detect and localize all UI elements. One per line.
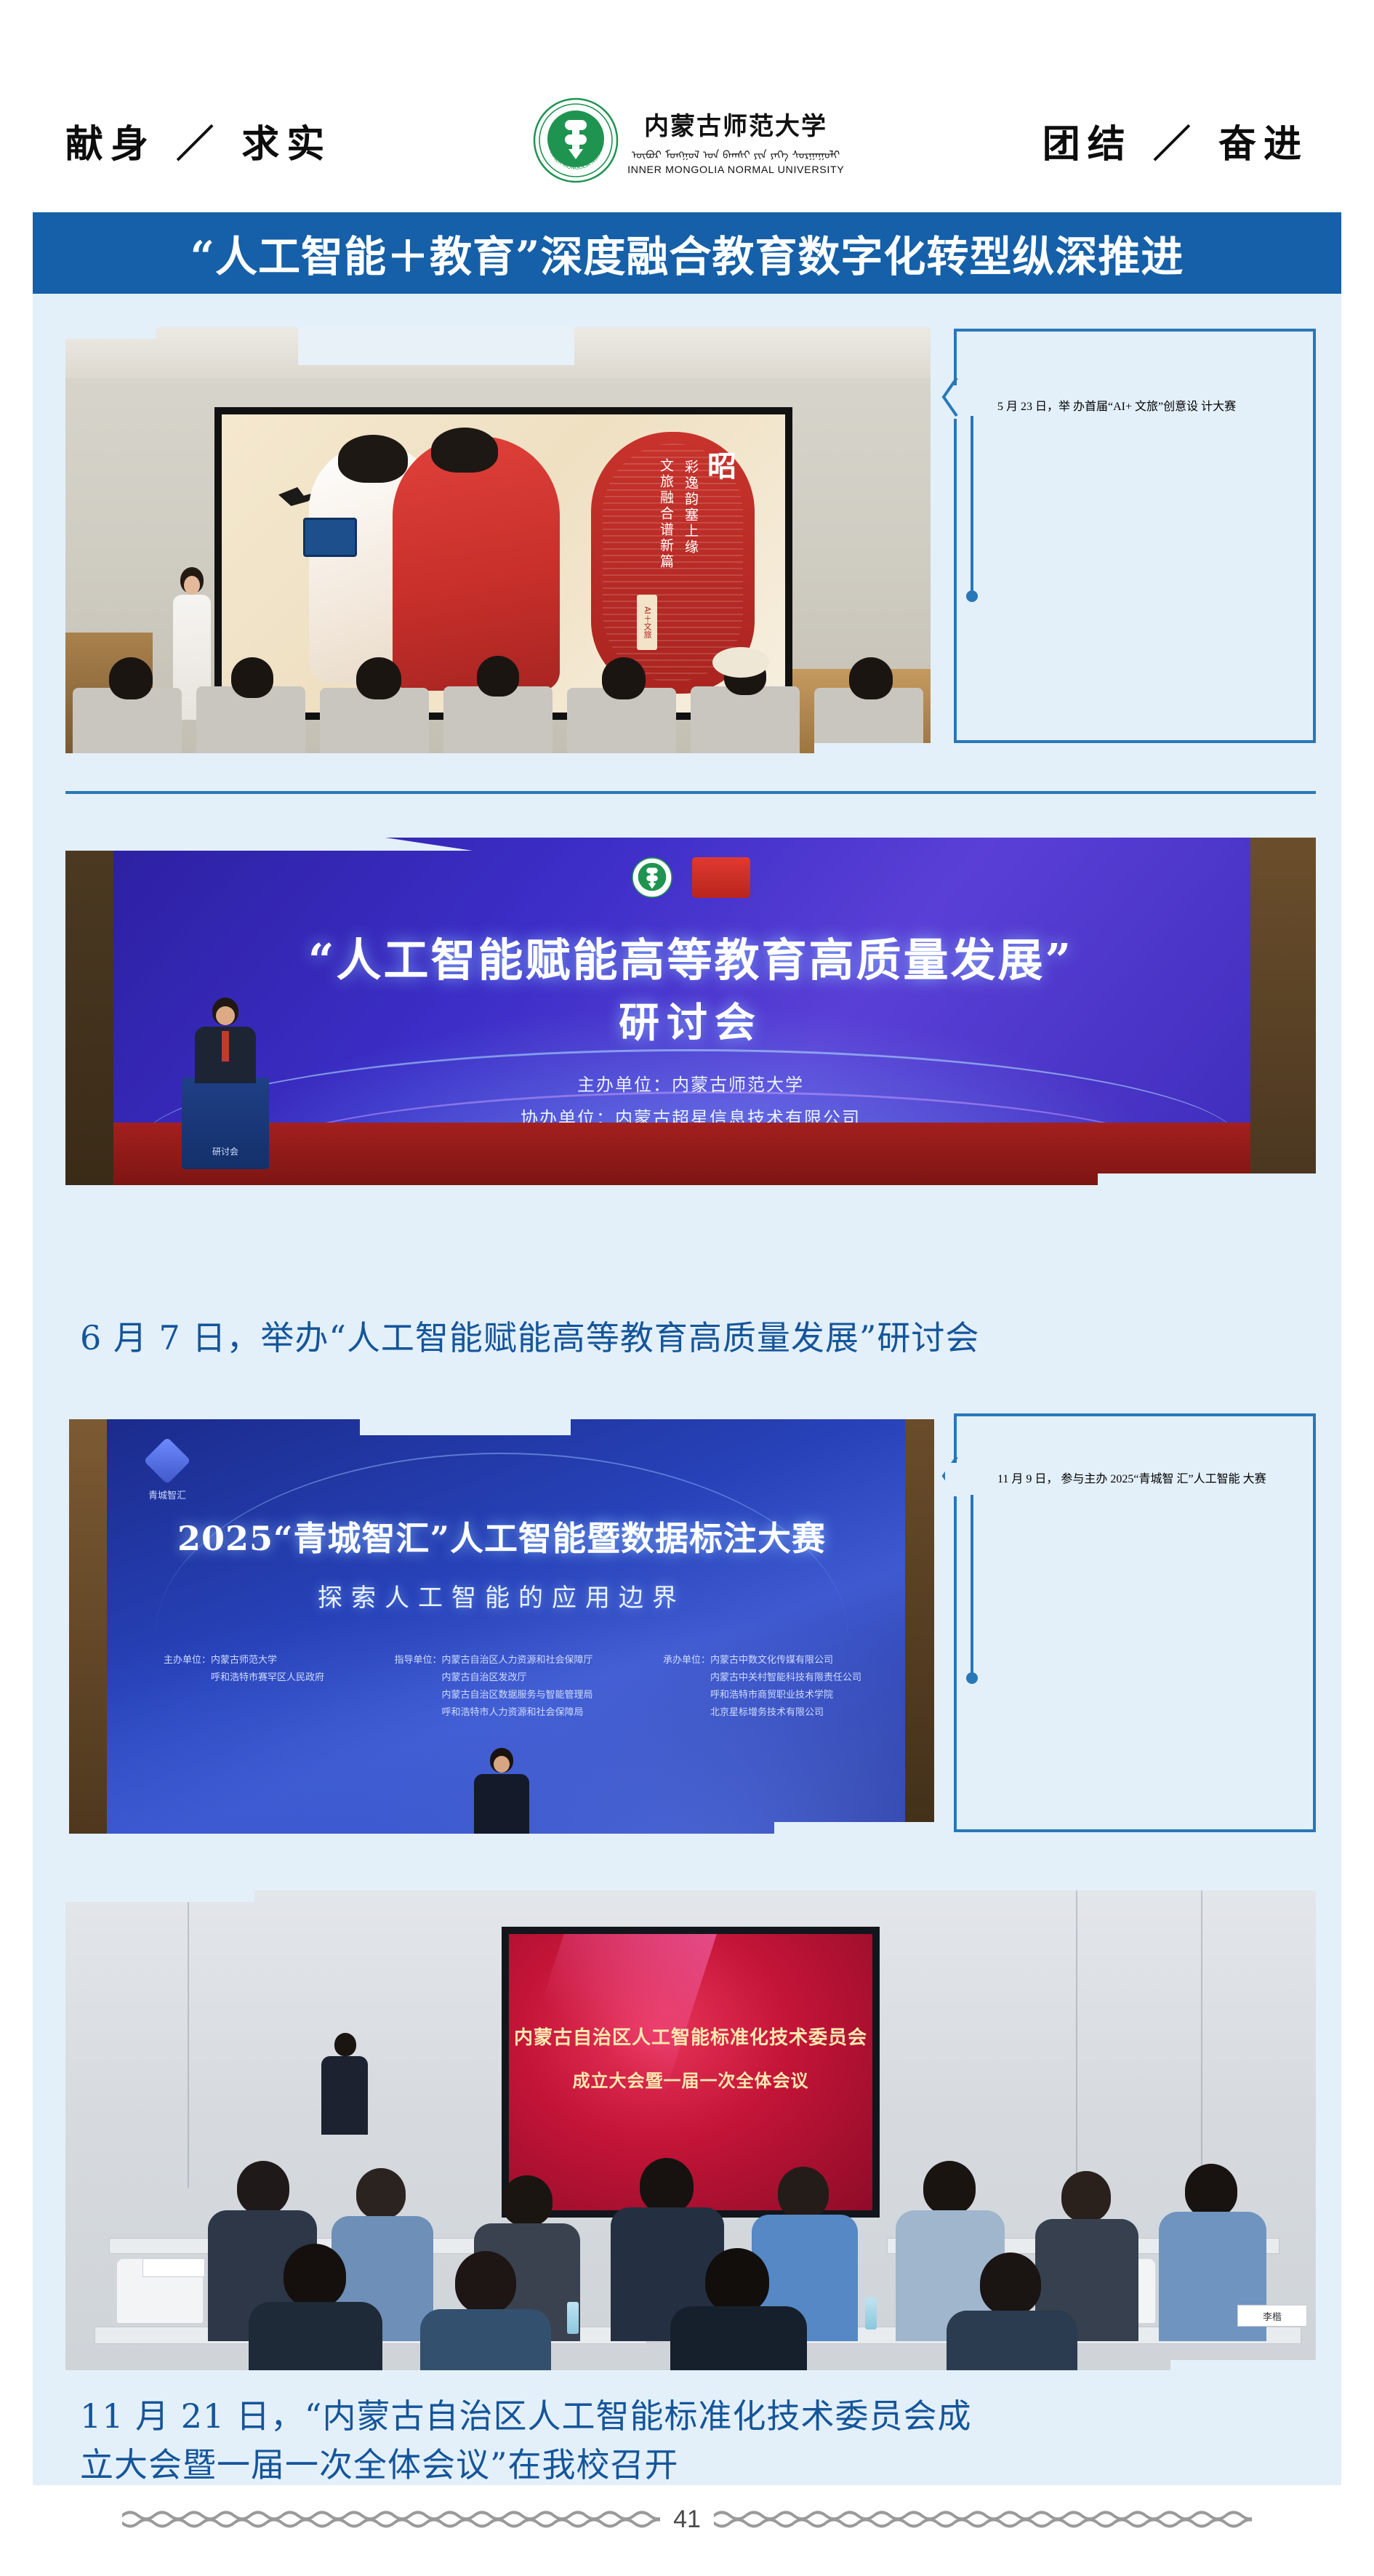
section-1-separator [65, 791, 1316, 794]
contest-org-columns: 主办单位：内蒙古师范大学 呼和浩特市赛罕区人民政府 指导单位：内蒙古自治区人力资… [164, 1652, 861, 1722]
screen-badge: AI＋文旅 [637, 595, 657, 650]
seminar-banner-title: “人工智能赋能高等教育高质量发展” [262, 923, 1120, 989]
wave-decoration-left-icon [122, 2508, 660, 2530]
university-crest-icon-small [631, 856, 673, 899]
page-footer: 41 [0, 2494, 1374, 2545]
caption-3-dot [966, 1672, 978, 1684]
meeting-screen-line-1: 内蒙古自治区人工智能标准化技术委员会 [509, 2023, 872, 2050]
seminar-banner-logos [631, 856, 750, 899]
meeting-screen-line-2: 成立大会暨一届一次全体会议 [509, 2066, 872, 2092]
caption-3-text: 11 月 9 日， 参与主办 2025“青城智 汇”人工智能 大赛 [997, 1469, 1303, 1486]
contest-banner-subtitle: 探索人工智能的应用边界 [318, 1578, 686, 1613]
contest-logo-label: 青城智汇 [142, 1488, 193, 1501]
nameplate: 李楷 [1237, 2305, 1307, 2327]
motto-left: 献身 ／ 求实 [65, 113, 332, 168]
audience-row [65, 654, 931, 753]
seminar-banner-subtitle: 研讨会 [619, 990, 763, 1049]
section-title-text: “人工智能＋教育”深度融合教育数字化转型纵深推进 [190, 222, 1184, 284]
podium-label: 研讨会 [182, 1145, 269, 1157]
screen-title-col-1: 彩逸韵塞上缘 [681, 460, 701, 555]
caption-3-text-wrap: 11 月 9 日， 参与主办 2025“青城智 汇”人工智能 大赛 [997, 1469, 1303, 1486]
caption-1-left-top-rule [954, 329, 957, 385]
section-title-bar: “人工智能＋教育”深度融合教育数字化转型纵深推进 [33, 212, 1341, 294]
contest-banner-title: 2025“青城智汇”人工智能暨数据标注大赛 [116, 1512, 887, 1560]
university-name-mn: ᠥᠪᠥᠷ ᠮᠣᠩᠭᠣᠯ ᠤᠨ ᠪᠠᠭᠰᠢ ᠶᠢᠨ ᠶᠡᠬᠡ ᠰᠤᠷᠭᠠᠭᠤᠯᠢ [632, 143, 840, 162]
caption-3-left-bottom-rule [954, 1710, 957, 1832]
caption-1-text: 5 月 23 日，举 办首届“AI+ 文旅”创意设 计大赛 [997, 396, 1303, 414]
photo-qingcheng-zhihui-ai-contest: 青城智汇 2025“青城智汇”人工智能暨数据标注大赛 探索人工智能的应用边界 主… [69, 1419, 934, 1834]
contest-org-column-2: 指导单位：内蒙古自治区人力资源和社会保障厅 内蒙古自治区发改厅 内蒙古自治区数据… [394, 1652, 592, 1722]
university-name-cn: 内蒙古师范大学 [644, 106, 827, 142]
caption-3-left-top-rule [954, 1413, 957, 1458]
photo-ai-wenlv-design-contest: 昭 彩逸韵塞上缘 文旅融合谱新篇 AI＋文旅 [65, 327, 931, 753]
caption-1-text-wrap: 5 月 23 日，举 办首届“AI+ 文旅”创意设 计大赛 [997, 396, 1303, 414]
screen-title-col-2: 文旅融合谱新篇 [656, 458, 676, 570]
university-name-block: 内蒙古师范大学 ᠥᠪᠥᠷ ᠮᠣᠩᠭᠣᠯ ᠤᠨ ᠪᠠᠭᠰᠢ ᠶᠢᠨ ᠶᠡᠬᠡ ᠰᠤ… [630, 106, 843, 175]
caption-1-frame [954, 329, 1316, 743]
screen-title-main: 昭 [698, 451, 740, 482]
host-figure [474, 1748, 529, 1834]
page-number: 41 [673, 2505, 701, 2534]
partner-logo-icon [692, 857, 750, 898]
contest-org-column-1: 主办单位：内蒙古师范大学 呼和浩特市赛罕区人民政府 [164, 1652, 324, 1722]
university-crest-icon: INNER MONGOLIA NORMAL UNIVERSITY [532, 97, 619, 184]
page-root: 献身 ／ 求实 INNER MONGOLIA NORMAL UNIVERSITY… [0, 0, 1374, 2576]
caption-3-notch-mask [945, 1463, 967, 1496]
motto-right: 团结 ／ 奋进 [1042, 113, 1309, 168]
caption-4-text: 11 月 21 日，“内蒙古自治区人工智能标准化技术委员会成 立大会暨一届一次全… [80, 2392, 1316, 2489]
university-logo: INNER MONGOLIA NORMAL UNIVERSITY 内蒙古师范大学… [532, 97, 843, 184]
wave-decoration-right-icon [714, 2508, 1252, 2530]
speaker-figure [195, 998, 256, 1083]
contest-org-column-3: 承办单位：内蒙古中数文化传媒有限公司 内蒙古中关村智能科技有限责任公司 呼和浩特… [663, 1652, 861, 1722]
photo-ai-standardization-committee-meeting: 内蒙古自治区人工智能标准化技术委员会 成立大会暨一届一次全体会议 [65, 1890, 1316, 2370]
photo-ai-higher-education-seminar: “人工智能赋能高等教育高质量发展” 研讨会 主办单位：内蒙古师范大学 协办单位：… [65, 838, 1316, 1185]
caption-3-vertical-rule [971, 1495, 973, 1677]
caption-2-text: 6 月 7 日，举办“人工智能赋能高等教育高质量发展”研讨会 [80, 1313, 1316, 1363]
page-header: 献身 ／ 求实 INNER MONGOLIA NORMAL UNIVERSITY… [0, 86, 1374, 195]
podium: 研讨会 [182, 1078, 269, 1169]
meeting-speaker-figure [321, 2033, 368, 2135]
university-name-en: INNER MONGOLIA NORMAL UNIVERSITY [627, 164, 844, 175]
caption-1-left-bottom-rule [954, 630, 957, 743]
